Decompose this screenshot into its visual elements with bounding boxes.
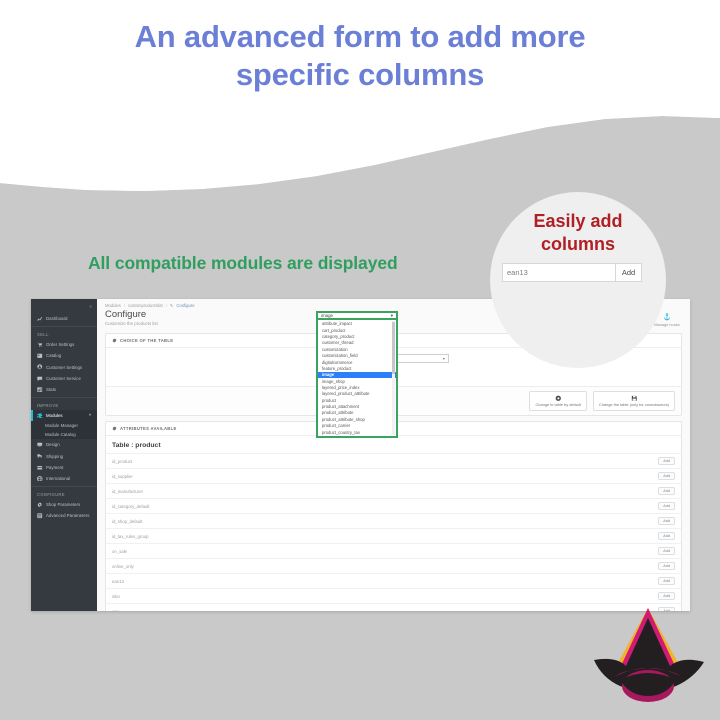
change-to-default-table-button[interactable]: Change to table by default	[529, 391, 586, 411]
design-icon	[37, 442, 43, 448]
sidebar-item-catalog[interactable]: Catalog	[31, 350, 97, 361]
breadcrumb-module[interactable]: customproductslist	[128, 303, 163, 308]
easily-add-columns-title: Easily add columns	[490, 210, 666, 255]
table-row: isbnAdd	[106, 588, 681, 603]
puzzle-icon	[37, 413, 43, 419]
attribute-name: id_manufacturer	[112, 489, 143, 494]
page-headline: An advanced form to add more specific co…	[0, 18, 720, 94]
sidebar-label: Shipping	[46, 454, 63, 459]
gear-icon	[112, 338, 117, 343]
attribute-name: online_only	[112, 564, 134, 569]
add-attribute-button[interactable]: Add	[658, 547, 675, 555]
save-icon	[599, 394, 669, 402]
attributes-panel-heading-text: ATTRIBUTES AVAILABLE	[120, 426, 177, 431]
table-row: id_category_defaultAdd	[106, 498, 681, 513]
sidebar-label: Dashboard	[46, 316, 67, 321]
sidebar-heading-configure: CONFIGURE	[31, 486, 97, 499]
chevron-down-icon: ▾	[443, 356, 445, 361]
customer-icon	[37, 364, 43, 370]
add-attribute-button[interactable]: Add	[658, 562, 675, 570]
add-attribute-button[interactable]: Add	[658, 517, 675, 525]
attribute-name: on_sale	[112, 549, 127, 554]
sidebar-heading-improve: IMPROVE	[31, 397, 97, 410]
choice-panel-heading-text: CHOICE OF THE TABLE	[120, 338, 173, 343]
sidebar-item-shop-parameters[interactable]: Shop Parameters	[31, 499, 97, 510]
attributes-table-title: Table : product	[106, 436, 681, 453]
sidebar-label: Advanced Parameters	[46, 513, 89, 518]
attribute-name: id_tax_rules_group	[112, 534, 149, 539]
globe-icon	[37, 475, 43, 481]
table-row: id_supplierAdd	[106, 468, 681, 483]
sidebar-label: Order Settings	[46, 342, 74, 347]
mascot-graphic	[586, 604, 710, 716]
sidebar-label: Customer Service	[46, 376, 81, 381]
compatible-modules-caption: All compatible modules are displayed	[88, 253, 398, 274]
sidebar-collapse-button[interactable]: «	[31, 302, 97, 313]
attribute-name: isbn	[112, 594, 120, 599]
dropdown-select-box[interactable]: image ▾	[316, 311, 398, 320]
breadcrumb-separator: /	[124, 303, 125, 308]
page-title: Configure	[105, 310, 158, 320]
sidebar-item-module-catalog[interactable]: Module Catalog	[31, 430, 97, 439]
add-column-form: ean13 Add	[502, 263, 642, 282]
change-table-connoisseurs-button[interactable]: Change the table (only for connoisseurs)	[593, 391, 675, 411]
sidebar-item-customer-settings[interactable]: Customer Settings	[31, 362, 97, 373]
breadcrumb-current: Configure	[176, 303, 194, 308]
table-row: id_shop_defaultAdd	[106, 513, 681, 528]
attribute-name: id_shop_default	[112, 519, 142, 524]
sidebar-item-advanced-parameters[interactable]: Advanced Parameters	[31, 510, 97, 521]
add-attribute-button[interactable]: Add	[658, 577, 675, 585]
dropdown-selected-value: image	[321, 313, 333, 318]
sidebar-item-shipping[interactable]: Shipping	[31, 451, 97, 462]
table-row: id_tax_rules_groupAdd	[106, 528, 681, 543]
sidebar-item-modules[interactable]: Modules ^	[31, 410, 97, 421]
tables-available-dropdown[interactable]: image ▾ attribute_impact cart_product ca…	[316, 311, 398, 438]
sidebar-label: Design	[46, 442, 60, 447]
headline-line-1: An advanced form to add more	[0, 18, 720, 56]
page-subtitle: Customize the products list	[105, 321, 158, 326]
add-attribute-button[interactable]: Add	[658, 592, 675, 600]
chat-icon	[37, 375, 43, 381]
footer-button-label: Change the table (only for connoisseurs)	[599, 402, 669, 407]
sidebar-item-dashboard[interactable]: Dashboard	[31, 313, 97, 324]
sidebar-item-customer-service[interactable]: Customer Service	[31, 373, 97, 384]
add-attribute-button[interactable]: Add	[658, 532, 675, 540]
chevron-down-icon: ▾	[391, 313, 393, 319]
table-row: online_onlyAdd	[106, 558, 681, 573]
sidebar-item-payment[interactable]: Payment	[31, 462, 97, 473]
attribute-name: ean13	[112, 579, 124, 584]
dropdown-option[interactable]: product_download	[318, 435, 396, 438]
sidebar-item-module-manager[interactable]: Module Manager	[31, 421, 97, 430]
shipping-icon	[37, 453, 43, 459]
sidebar-item-order-settings[interactable]: Order Settings	[31, 339, 97, 350]
callout-line-1: Easily add	[490, 210, 666, 233]
callout-line-2: columns	[490, 233, 666, 256]
sidebar-label: Modules	[46, 413, 86, 418]
gear-icon	[37, 502, 43, 508]
dropdown-scrollbar-thumb[interactable]	[392, 322, 395, 374]
dropdown-option-list[interactable]: attribute_impact cart_product category_p…	[316, 320, 398, 438]
admin-sidebar: « Dashboard SELL Order Settings Catalog …	[31, 299, 97, 611]
add-attribute-button[interactable]: Add	[658, 457, 675, 465]
table-row: id_productAdd	[106, 453, 681, 468]
sidebar-label: International	[46, 476, 70, 481]
sliders-icon	[37, 513, 43, 519]
headline-line-2: specific columns	[0, 56, 720, 94]
cart-icon	[37, 342, 43, 348]
attributes-available-panel: ATTRIBUTES AVAILABLE Table : product id_…	[105, 421, 682, 611]
toolbar-label: Manage hooks	[654, 322, 680, 327]
gear-icon	[112, 426, 117, 431]
column-name-input[interactable]: ean13	[502, 263, 616, 282]
breadcrumb-separator: /	[166, 303, 167, 308]
ninja-mascot-logo	[586, 604, 710, 716]
sidebar-label: Catalog	[46, 353, 61, 358]
catalog-icon	[37, 353, 43, 359]
reset-icon	[535, 394, 580, 402]
attribute-name: id_category_default	[112, 504, 150, 509]
footer-button-label: Change to table by default	[535, 402, 580, 407]
add-attribute-button[interactable]: Add	[658, 487, 675, 495]
breadcrumb-root[interactable]: Modules	[105, 303, 121, 308]
table-row: on_saleAdd	[106, 543, 681, 558]
sidebar-label: Payment	[46, 465, 63, 470]
attribute-name: id_product	[112, 459, 132, 464]
attribute-name: upc	[112, 609, 119, 612]
attribute-name: id_supplier	[112, 474, 133, 479]
payment-icon	[37, 464, 43, 470]
sidebar-label: Customer Settings	[46, 365, 82, 370]
table-row: ean13Add	[106, 573, 681, 588]
stats-icon	[37, 387, 43, 393]
sidebar-item-international[interactable]: International	[31, 473, 97, 484]
add-column-button[interactable]: Add	[616, 263, 642, 282]
table-row: id_manufacturerAdd	[106, 483, 681, 498]
sidebar-label: Stats	[46, 387, 56, 392]
page-header-text: Configure Customize the products list	[105, 310, 158, 326]
add-attribute-button[interactable]: Add	[658, 502, 675, 510]
sidebar-label: Shop Parameters	[46, 502, 80, 507]
pencil-icon: ✎	[170, 303, 174, 308]
add-attribute-button[interactable]: Add	[658, 472, 675, 480]
sidebar-item-stats[interactable]: Stats	[31, 384, 97, 395]
sidebar-heading-sell: SELL	[31, 326, 97, 339]
dashboard-icon	[37, 316, 43, 322]
sidebar-item-design[interactable]: Design	[31, 439, 97, 450]
chevron-up-icon: ^	[89, 413, 91, 418]
